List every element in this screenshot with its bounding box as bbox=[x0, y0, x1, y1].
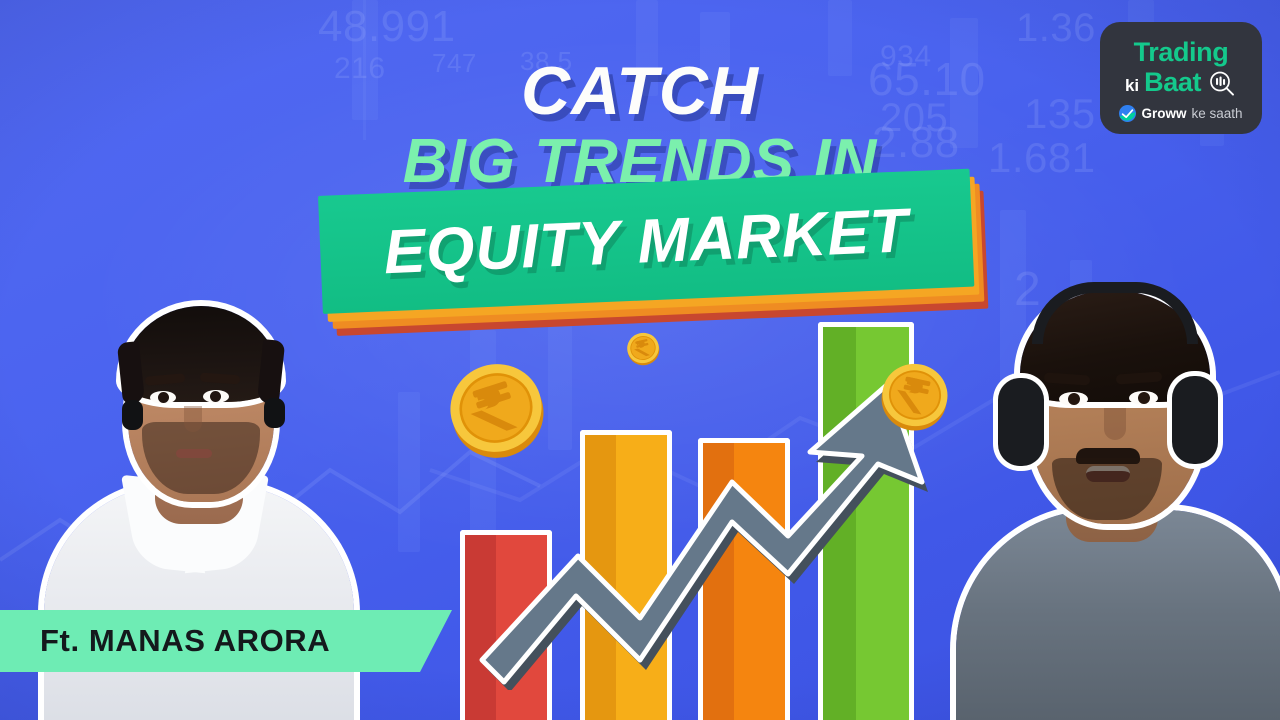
headline-block: CATCH BIG TRENDS IN EQUITY MARKET bbox=[0, 0, 1280, 380]
guest-name-strip: Ft. MANAS ARORA bbox=[0, 610, 452, 672]
presenter-left-nose bbox=[184, 406, 202, 432]
youtube-thumbnail: 48.99121674738.51.3693465.102052.881351.… bbox=[0, 0, 1280, 720]
presenter-left-earbud bbox=[264, 398, 285, 428]
logo-word-baat: Baat bbox=[1144, 69, 1201, 96]
magnifier-candlestick-icon bbox=[1207, 69, 1237, 99]
logo-word-ki: ki bbox=[1125, 77, 1139, 96]
logo-row-brand: Groww ke saath bbox=[1119, 105, 1242, 122]
presenter-left-earbud bbox=[122, 400, 143, 430]
presenter-left-pupil bbox=[210, 391, 221, 402]
presenter-right-nose bbox=[1104, 408, 1126, 440]
growth-illustration bbox=[430, 320, 950, 720]
groww-check-icon bbox=[1119, 105, 1136, 122]
presenter-right-pupil bbox=[1138, 392, 1150, 404]
logo-tagline: ke saath bbox=[1191, 106, 1242, 121]
guest-name-label: Ft. MANAS ARORA bbox=[40, 623, 330, 659]
headphones-earcup-icon bbox=[998, 378, 1044, 466]
headline-banner: EQUITY MARKET bbox=[318, 196, 978, 344]
presenter-right-pupil bbox=[1068, 393, 1080, 405]
headline-line-1: CATCH bbox=[0, 52, 1280, 130]
logo-word-trading: Trading bbox=[1134, 39, 1229, 66]
presenter-left-mouth bbox=[176, 449, 212, 458]
logo-row-ki-baat: ki Baat bbox=[1125, 69, 1237, 96]
presenter-left-pupil bbox=[158, 392, 169, 403]
headphones-earcup-icon bbox=[1172, 376, 1218, 464]
channel-logo: Trading ki Baat Groww ke saath bbox=[1100, 22, 1262, 134]
logo-brand-name: Groww bbox=[1141, 106, 1186, 121]
